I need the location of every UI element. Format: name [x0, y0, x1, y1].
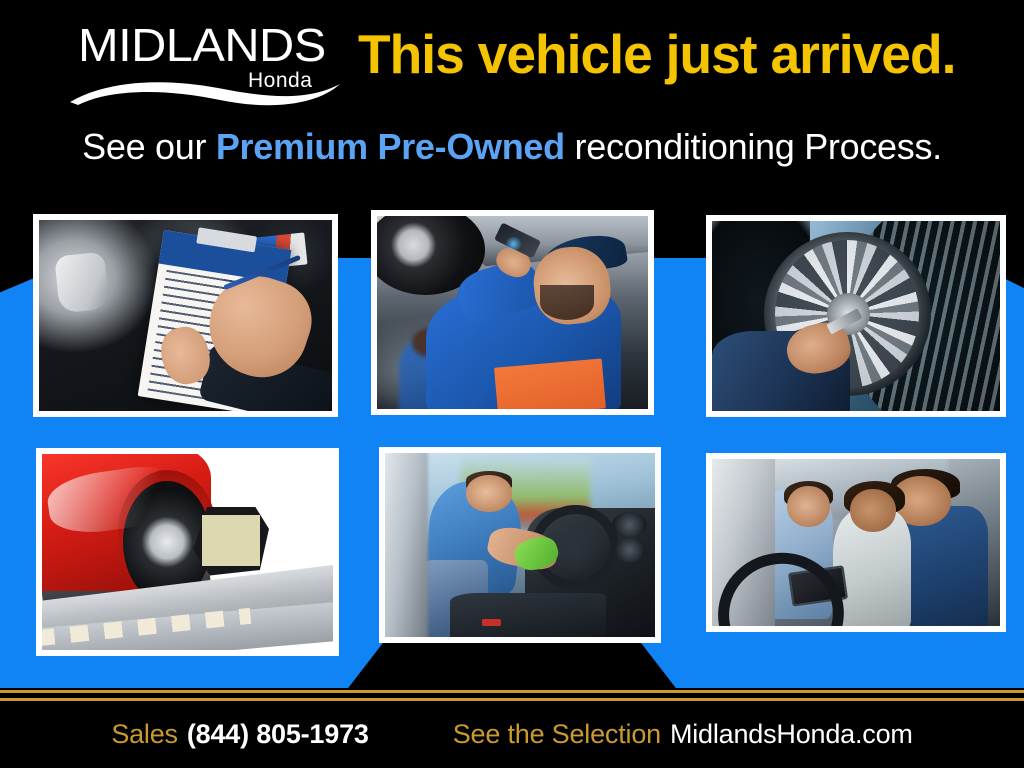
wheel-and-tire-service-photo — [706, 215, 1006, 417]
customer-delivery-photo — [706, 453, 1006, 632]
sales-contact[interactable]: Sales (844) 805-1973 — [111, 719, 368, 750]
swoosh-underline-icon — [68, 72, 343, 106]
sales-phone-number[interactable]: (844) 805-1973 — [187, 719, 369, 750]
subheadline-prefix: See our — [82, 126, 216, 167]
interior-detailing-photo — [379, 447, 661, 643]
footer: Sales (844) 805-1973 See the Selection M… — [0, 701, 1024, 768]
wheel-alignment-photo — [36, 448, 339, 656]
subheadline-suffix: reconditioning Process. — [565, 126, 942, 167]
undercarriage-inspection-photo — [371, 210, 654, 415]
headline: This vehicle just arrived. — [358, 24, 955, 84]
advertisement-banner: MIDLANDS Honda This vehicle just arrived… — [0, 0, 1024, 768]
sales-label: Sales — [111, 719, 178, 750]
header: MIDLANDS Honda This vehicle just arrived… — [0, 0, 1024, 110]
website-url[interactable]: MidlandsHonda.com — [670, 719, 913, 750]
selection-link[interactable]: See the Selection MidlandsHonda.com — [453, 719, 913, 750]
footer-divider-top — [0, 690, 1024, 693]
subheadline-emphasis: Premium Pre-Owned — [216, 126, 565, 167]
see-the-selection-label: See the Selection — [453, 719, 661, 750]
logo-wordmark-midlands: MIDLANDS — [78, 22, 326, 68]
subheadline: See our Premium Pre-Owned reconditioning… — [0, 126, 1024, 168]
multi-point-inspection-checklist-photo — [33, 214, 338, 417]
dealership-logo[interactable]: MIDLANDS Honda — [68, 22, 348, 100]
